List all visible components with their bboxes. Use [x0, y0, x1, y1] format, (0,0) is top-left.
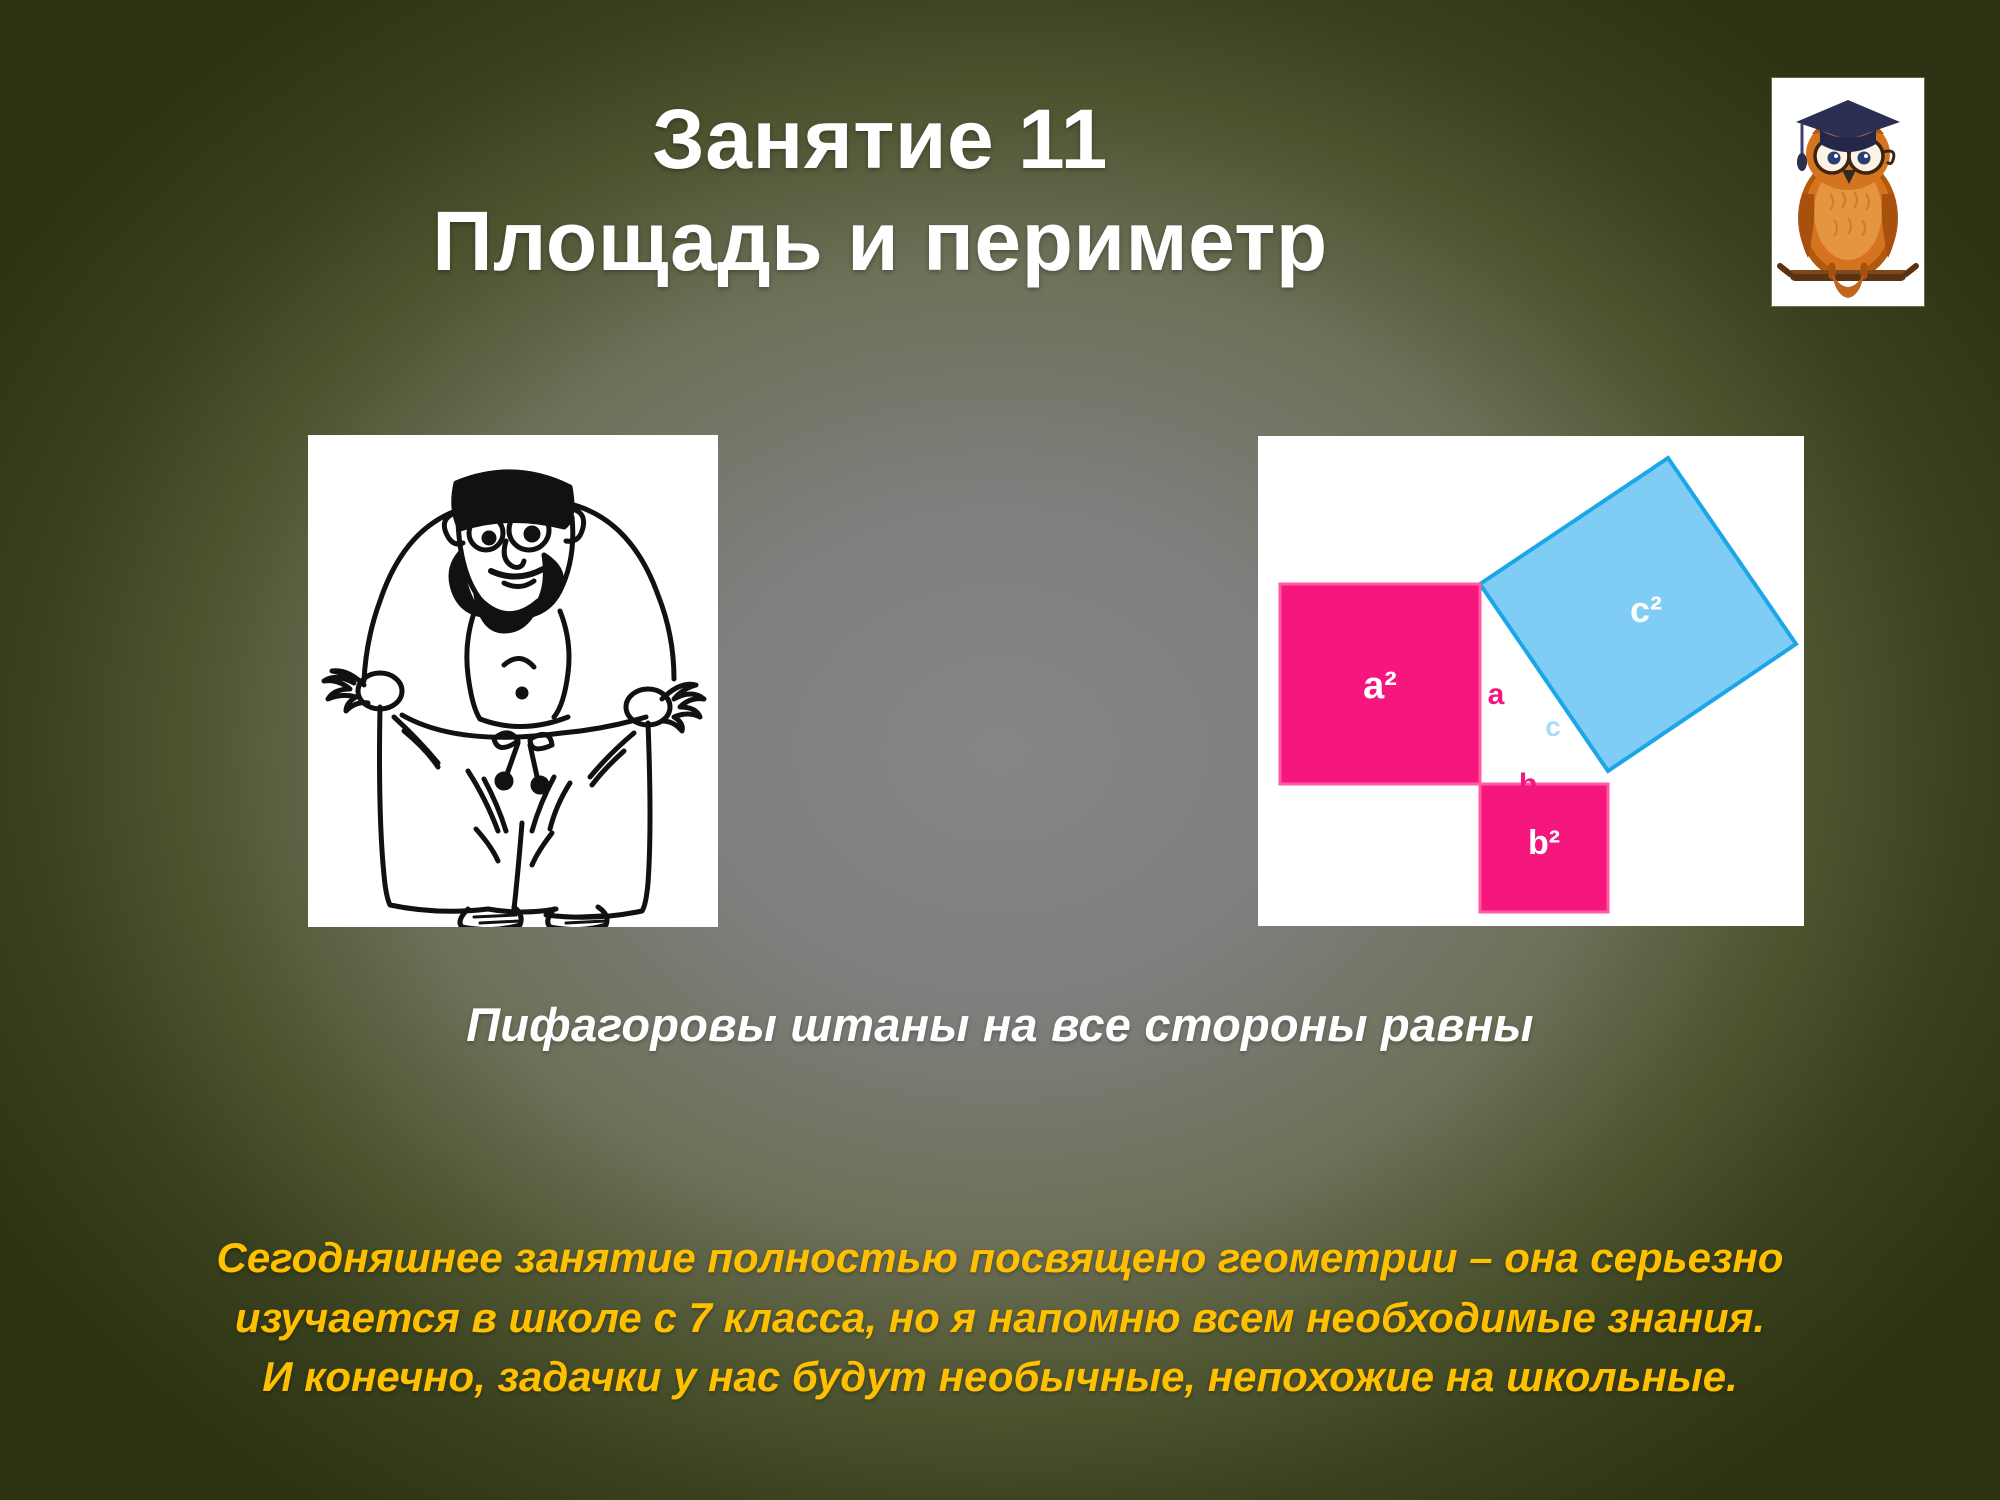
- page-title: Занятие 11 Площадь и периметр: [0, 88, 1760, 293]
- note-line-3: И конечно, задачки у нас будут необычные…: [100, 1347, 1900, 1407]
- title-line-1: Занятие 11: [0, 88, 1760, 190]
- label-b-squared: b²: [1528, 824, 1560, 862]
- label-side-a: a: [1488, 678, 1505, 711]
- label-side-b: b: [1519, 768, 1537, 801]
- label-c-squared: c²: [1630, 589, 1662, 630]
- label-side-c: c: [1545, 711, 1561, 742]
- cartoon-man-wide-trousers-icon: [308, 435, 718, 927]
- graduate-owl-icon: [1772, 78, 1924, 306]
- presentation-slide: Занятие 11 Площадь и периметр: [0, 0, 2000, 1500]
- label-a-squared: a²: [1363, 665, 1397, 707]
- caption: Пифагоровы штаны на все стороны равны: [0, 997, 2000, 1052]
- pythagorean-squares-icon: c² a² b² a c b: [1258, 436, 1804, 926]
- note-line-2: изучается в школе с 7 класса, но я напом…: [100, 1288, 1900, 1348]
- title-line-2: Площадь и периметр: [0, 190, 1760, 292]
- note-paragraph: Сегодняшнее занятие полностью посвящено …: [100, 1228, 1900, 1407]
- note-line-1: Сегодняшнее занятие полностью посвящено …: [100, 1228, 1900, 1288]
